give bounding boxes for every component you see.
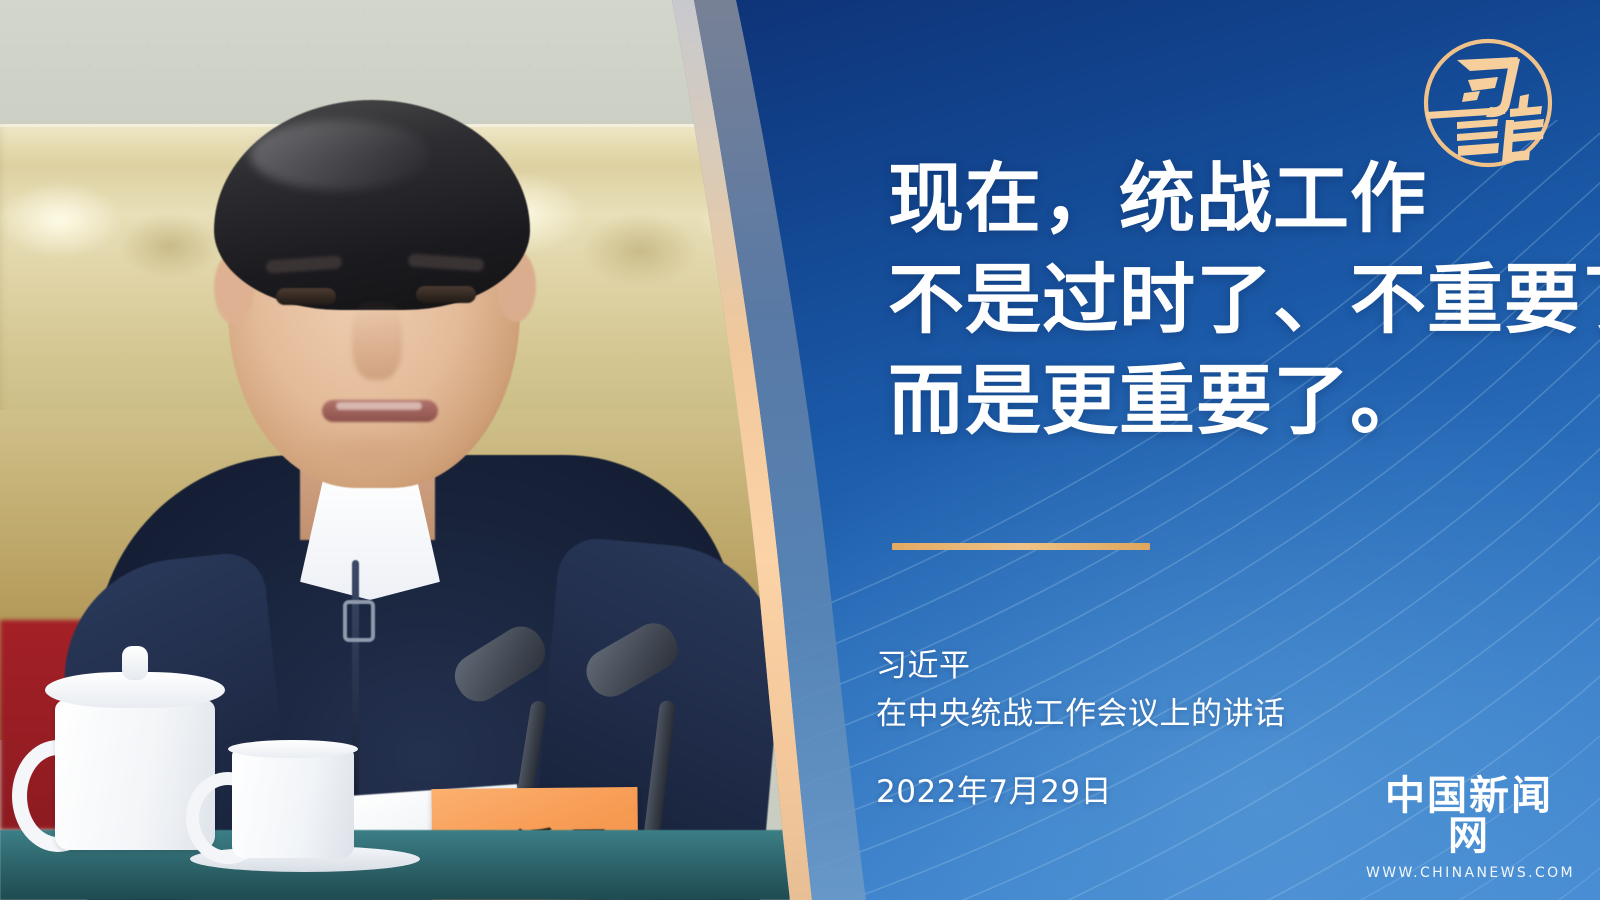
photo-content: 习近平 xyxy=(0,0,790,900)
quote-line-3: 而是更重要了。 xyxy=(888,350,1588,451)
zipper-pull xyxy=(343,600,375,642)
quote-line-1: 现在，统战工作 xyxy=(888,148,1588,249)
watermark-brand: 中国新闻网 xyxy=(1366,776,1572,856)
teacup-lid-knob xyxy=(122,646,148,680)
speaker-photo: 习近平 xyxy=(0,0,810,900)
quote-text: 现在，统战工作 不是过时了、不重要了， 而是更重要了。 xyxy=(888,148,1588,451)
quote-line-2: 不是过时了、不重要了， xyxy=(888,249,1588,350)
photo-clip-mask: 习近平 xyxy=(0,0,810,900)
attribution-occasion: 在中央统战工作会议上的讲话 xyxy=(876,690,1516,738)
nose xyxy=(352,300,402,380)
attribution-speaker: 习近平 xyxy=(876,642,1516,690)
hair-highlight xyxy=(250,120,430,190)
left-eye xyxy=(276,288,336,305)
right-eye xyxy=(416,286,476,303)
chin-shadow xyxy=(300,430,440,476)
open-teacup xyxy=(232,748,354,858)
poster-root: 习近平 xyxy=(0,0,1600,900)
open-teacup-rim xyxy=(228,740,358,758)
white-shirt-collar xyxy=(300,470,440,600)
chinanews-watermark: 中国新闻网 WWW.CHINANEWS.COM xyxy=(1366,776,1572,881)
watermark-url: WWW.CHINANEWS.COM xyxy=(1366,865,1572,881)
gold-divider xyxy=(892,543,1150,550)
teeth-highlight xyxy=(336,402,422,410)
